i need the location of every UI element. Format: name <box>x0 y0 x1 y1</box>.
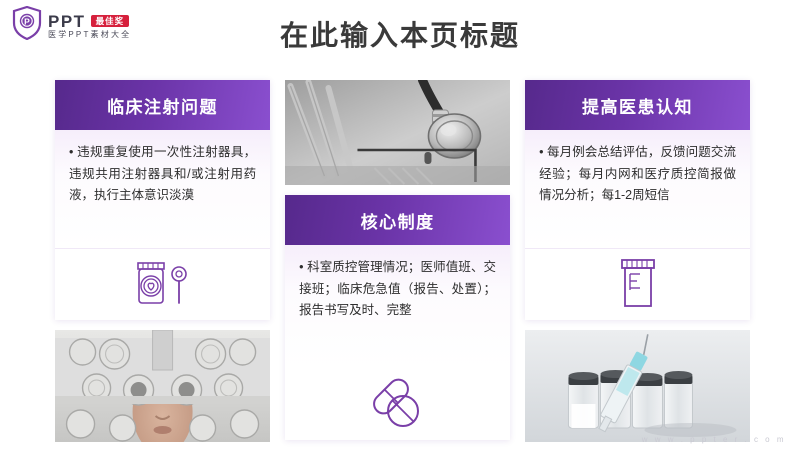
medicine-bottle-heart-icon <box>126 255 200 314</box>
card-text: • 每月例会总结评估，反馈问题交流经验；每月内网和医疗质控简报做情况分析；每1-… <box>539 142 736 207</box>
syringe-vials-photo <box>525 330 750 442</box>
card-core-system[interactable]: 核心制度 • 科室质控管理情况；医师值班、交接班；临床危急值（报告、处置）；报告… <box>285 195 510 440</box>
card-heading: 临床注射问题 <box>55 80 270 130</box>
capsule-pills-icon <box>365 373 431 436</box>
card-text: • 科室质控管理情况；医师值班、交接班；临床危急值（报告、处置）；报告书写及时、… <box>299 257 496 322</box>
pill-bottle-icon <box>611 254 665 315</box>
stethoscope-photo <box>285 80 510 185</box>
watermark: w w w . p p t e r . c o m <box>642 435 786 444</box>
column-middle: 核心制度 • 科室质控管理情况；医师值班、交接班；临床危急值（报告、处置）；报告… <box>285 80 510 442</box>
card-clinical-injection[interactable]: 临床注射问题 • 违规重复使用一次性注射器具，违规共用注射器具和/或注射用药液，… <box>55 80 270 320</box>
card-body: • 每月例会总结评估，反馈问题交流经验；每月内网和医疗质控简报做情况分析；每1-… <box>525 130 750 248</box>
card-patient-awareness[interactable]: 提高医患认知 • 每月例会总结评估，反馈问题交流经验；每月内网和医疗质控简报做情… <box>525 80 750 320</box>
phoropter-eye-exam-photo <box>55 330 270 442</box>
column-left: 临床注射问题 • 违规重复使用一次性注射器具，违规共用注射器具和/或注射用药液，… <box>55 80 270 442</box>
card-body: • 违规重复使用一次性注射器具，违规共用注射器具和/或注射用药液，执行主体意识淡… <box>55 130 270 248</box>
page-title: 在此输入本页标题 <box>0 14 800 54</box>
content-board: 临床注射问题 • 违规重复使用一次性注射器具，违规共用注射器具和/或注射用药液，… <box>55 80 750 442</box>
card-icon-slot <box>55 248 270 320</box>
column-right: 提高医患认知 • 每月例会总结评估，反馈问题交流经验；每月内网和医疗质控简报做情… <box>525 80 750 442</box>
card-heading: 提高医患认知 <box>525 80 750 130</box>
card-text: • 违规重复使用一次性注射器具，违规共用注射器具和/或注射用药液，执行主体意识淡… <box>69 142 256 207</box>
card-icon-slot <box>525 248 750 320</box>
card-icon-slot <box>285 368 510 440</box>
card-body: • 科室质控管理情况；医师值班、交接班；临床危急值（报告、处置）；报告书写及时、… <box>285 245 510 368</box>
card-heading: 核心制度 <box>285 195 510 245</box>
